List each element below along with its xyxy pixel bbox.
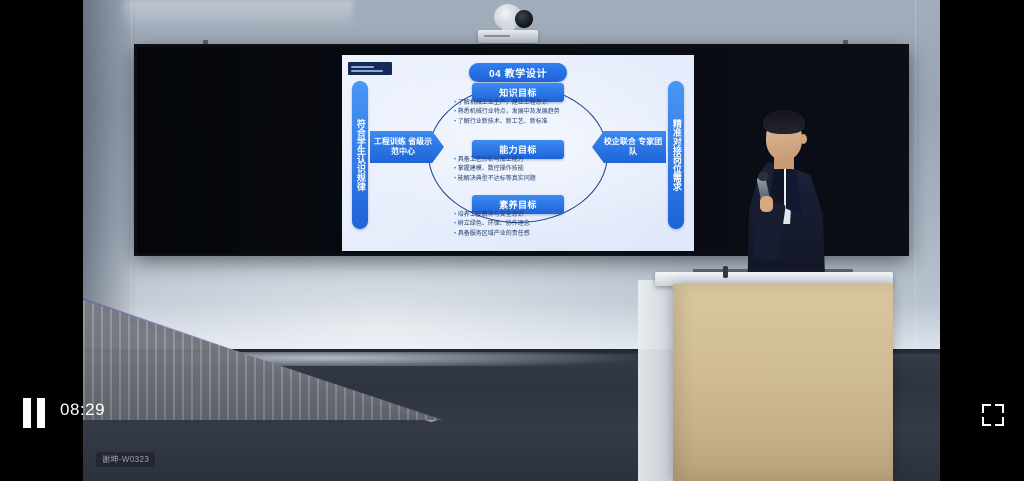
slide-callout-right: 校企联合 专家团队: [592, 131, 666, 163]
ceiling-light-glow: [123, 0, 353, 30]
slide-title: 04 教学设计: [469, 63, 567, 82]
wall-shadow: [83, 0, 138, 352]
bullet-item: 了解行业新技术、新工艺、新标准: [454, 118, 582, 127]
bullet-item: 掌握建模、数控操作技能: [454, 165, 582, 174]
bullet-item: 能解决典型不达标等真实问题: [454, 175, 582, 184]
bullet-item: 具备服务区域产业的责任感: [454, 230, 582, 239]
podium-side-panel: [638, 280, 678, 481]
bullet-item: 具备工艺分析与加工能力: [454, 156, 582, 165]
presenter-hand: [760, 196, 773, 212]
slide-logo-icon: [348, 62, 392, 75]
expand-corners-icon[interactable]: [982, 404, 1004, 426]
video-watermark: 谢坤-W0323: [96, 452, 155, 467]
presenter-ear: [800, 134, 807, 144]
wall-seam: [131, 0, 132, 352]
podium-front-panel: 江苏科技大学 1933 JIANGSU UNIVERSITY OF SCIENC…: [673, 284, 893, 481]
slide-callout-left: 工程训练 省级示范中心: [370, 131, 444, 163]
goal-bullets-ability: 具备工艺分析与加工能力 掌握建模、数控操作技能 能解决典型不达标等真实问题: [454, 156, 582, 184]
presentation-slide: 04 教学设计 符合学生认识规律 精准对接岗位需求 知识目标 了解机械工业生产，…: [342, 55, 694, 251]
bullet-item: 了解机械工业生产，建立工程意识: [454, 99, 582, 108]
slide-ribbon-right: 精准对接岗位需求: [668, 81, 684, 229]
bullet-item: 培养工匠精神与安全意识: [454, 211, 582, 220]
podium-microphone-icon: [723, 266, 728, 278]
video-viewport[interactable]: 04 教学设计 符合学生认识规律 精准对接岗位需求 知识目标 了解机械工业生产，…: [83, 0, 940, 481]
bullet-item: 熟悉机械行业特点，发展中及发展趋势: [454, 108, 582, 117]
bullet-item: 树立绿色、环保、协作理念: [454, 220, 582, 229]
ptz-conference-camera-icon: [478, 2, 538, 46]
slide-ribbon-left: 符合学生认识规律: [352, 81, 368, 229]
camera-lens-icon: [515, 10, 533, 28]
goal-bullets-knowledge: 了解机械工业生产，建立工程意识 熟悉机械行业特点，发展中及发展趋势 了解行业新技…: [454, 99, 582, 127]
timecode-label: 08:29: [60, 400, 105, 420]
pause-icon[interactable]: [23, 398, 47, 428]
goal-bullets-literacy: 培养工匠精神与安全意识 树立绿色、环保、协作理念 具备服务区域产业的责任感: [454, 211, 582, 239]
wall-seam: [915, 0, 916, 352]
presenter-hair: [763, 110, 805, 134]
presenter: [738, 110, 833, 295]
video-player: 04 教学设计 符合学生认识规律 精准对接岗位需求 知识目标 了解机械工业生产，…: [0, 0, 1024, 481]
